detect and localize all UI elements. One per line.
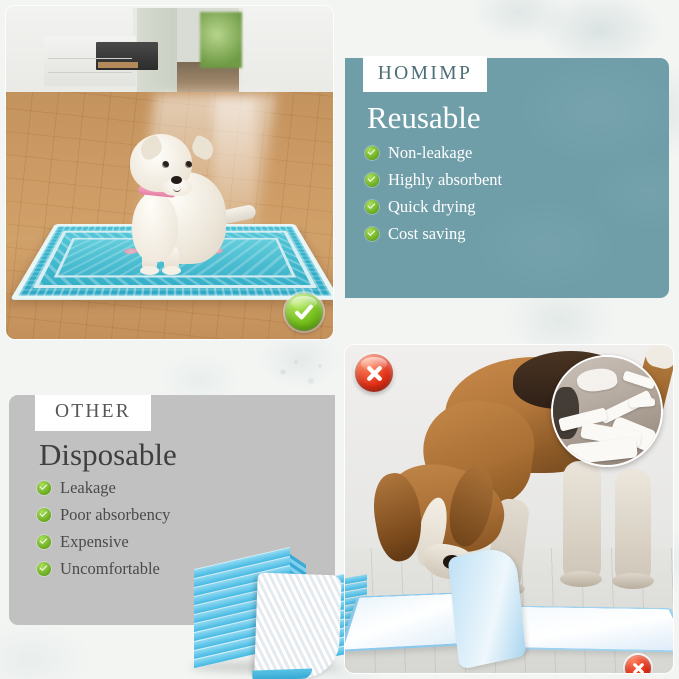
check-circle-icon xyxy=(37,508,51,522)
brand-tag-homimp: HOMIMP xyxy=(363,56,487,92)
product-comparison-image: HOMIMP Reusable Non-leakage Highly absor… xyxy=(0,0,679,679)
brand-tag-other: OTHER xyxy=(35,395,151,431)
list-item: Non-leakage xyxy=(365,143,655,163)
check-circle-icon xyxy=(365,173,379,187)
check-circle-icon xyxy=(365,227,379,241)
check-circle-icon xyxy=(37,535,51,549)
x-badge-icon xyxy=(355,354,393,392)
check-circle-icon xyxy=(365,200,379,214)
dog-eye-right xyxy=(185,161,192,168)
feature-list-reusable: Non-leakage Highly absorbent Quick dryin… xyxy=(365,143,655,244)
books xyxy=(98,62,138,68)
brand-label: HOMIMP xyxy=(378,63,473,85)
folded-pad-edge xyxy=(448,544,527,670)
list-item: Highly absorbent xyxy=(365,170,655,190)
feature-label: Quick drying xyxy=(388,197,476,217)
feature-label: Non-leakage xyxy=(388,143,472,163)
brand-label: OTHER xyxy=(55,401,131,423)
dog-eye-left xyxy=(162,161,169,168)
panel-title-disposable: Disposable xyxy=(39,439,321,470)
list-item: Quick drying xyxy=(365,197,655,217)
dog-head xyxy=(130,134,192,192)
photo-reusable-pad-with-dog xyxy=(6,6,333,339)
dog-ear-right xyxy=(189,134,218,162)
panel-reusable-features: HOMIMP Reusable Non-leakage Highly absor… xyxy=(345,58,669,298)
white-dresser xyxy=(44,36,136,86)
feature-label: Expensive xyxy=(60,532,129,552)
white-dog xyxy=(112,128,246,276)
list-item: Poor absorbency xyxy=(37,505,321,525)
check-circle-icon xyxy=(365,146,379,160)
feature-label: Cost saving xyxy=(388,224,465,244)
check-circle-icon xyxy=(37,481,51,495)
check-badge-icon xyxy=(285,293,323,331)
dog-ear-left xyxy=(137,134,166,162)
dog-chest xyxy=(132,192,178,262)
list-item: Leakage xyxy=(37,478,321,498)
feature-label: Poor absorbency xyxy=(60,505,170,525)
feature-label: Highly absorbent xyxy=(388,170,502,190)
white-quilted-pad xyxy=(254,573,342,679)
dog-hind-leg xyxy=(563,461,601,583)
inset-dark-area xyxy=(553,387,579,439)
feature-label: Uncomfortable xyxy=(60,559,160,579)
inset-shredded-pad-closeup xyxy=(551,355,663,467)
panel-title-reusable: Reusable xyxy=(367,102,655,133)
outdoor-greenery xyxy=(200,12,242,68)
pad-blue-backing xyxy=(252,668,312,679)
dog-nose xyxy=(171,176,182,184)
list-item: Cost saving xyxy=(365,224,655,244)
feature-label: Leakage xyxy=(60,478,116,498)
check-circle-icon xyxy=(37,562,51,576)
dog-hind-leg-2 xyxy=(615,469,651,585)
disposable-pads-illustration xyxy=(190,540,342,679)
photo-beagle-shredding-pad xyxy=(345,345,673,673)
